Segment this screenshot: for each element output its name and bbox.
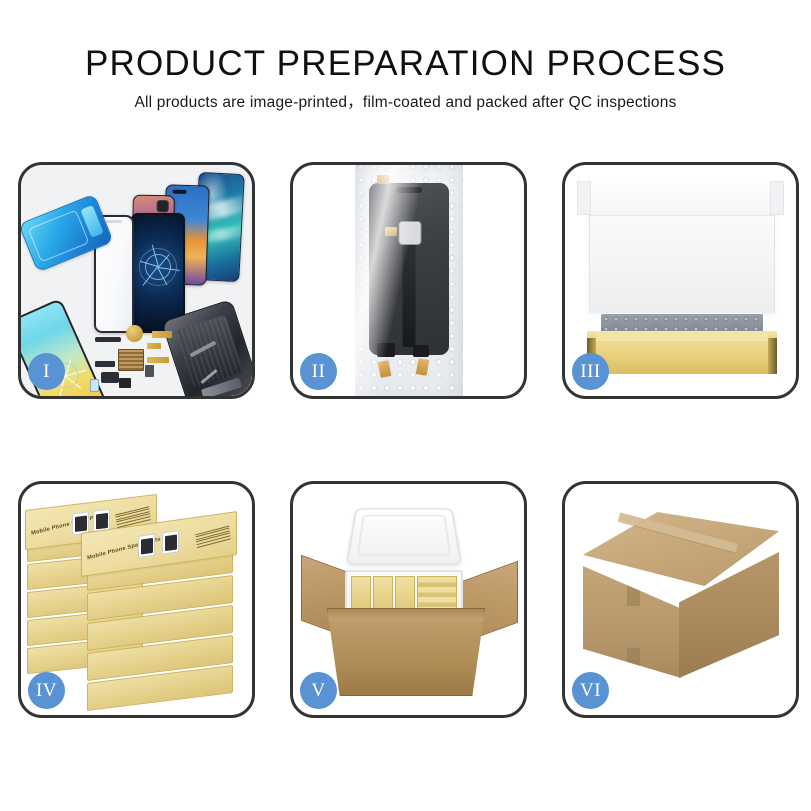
part-vibrator-motor [126, 325, 143, 342]
process-step-grid: I II [18, 162, 793, 718]
part-battery-connector [145, 365, 154, 377]
lid-flap-left [577, 181, 591, 215]
product-preparation-infographic: PRODUCT PREPARATION PROCESS All products… [0, 0, 811, 811]
process-step-5[interactable]: V [290, 481, 527, 718]
box-screen-image-c [138, 534, 155, 558]
part-camera-flex [95, 361, 115, 367]
driver-ic-right [413, 345, 429, 357]
carton-flap-mark-top [627, 584, 640, 606]
page-title: PRODUCT PREPARATION PROCESS [0, 44, 811, 84]
part-ic-chip [119, 378, 131, 388]
carton-left-face [583, 566, 681, 678]
part-flex-cable-c [147, 357, 169, 363]
phone-cracked-blue [131, 213, 185, 333]
gold-inner-box [587, 338, 777, 374]
process-step-2[interactable]: II [290, 162, 527, 399]
spare-parts-photo: I [21, 165, 252, 396]
stacked-boxes-photo: Mobile Phone Spare Parts Mobile Phone Sp… [21, 484, 252, 715]
tape-tab-lower-right [415, 358, 429, 376]
step-badge-5: V [300, 672, 337, 709]
process-step-1[interactable]: I [18, 162, 255, 399]
box-lid-white [589, 181, 775, 313]
process-step-4[interactable]: Mobile Phone Spare Parts Mobile Phone Sp… [18, 481, 255, 718]
box-screen-image-d [162, 530, 179, 554]
step-badge-3: III [572, 353, 609, 390]
sealed-carton-photo: VI [565, 484, 796, 715]
part-camera-module [101, 372, 119, 383]
foam-lid [346, 508, 463, 565]
step-badge-4: IV [28, 672, 65, 709]
part-lens [90, 379, 99, 392]
page-subtitle: All products are image-printed，film-coat… [0, 93, 811, 113]
box-spec-lines-front [195, 524, 231, 550]
box-inner-wall [596, 334, 768, 341]
carton-flap-mark-bottom [627, 648, 640, 670]
step-badge-2: II [300, 353, 337, 390]
bubble-wrap-photo: II [293, 165, 524, 396]
step-badge-6: VI [572, 672, 609, 709]
shipping-carton-open [327, 608, 485, 696]
lid-flap-right [770, 181, 784, 215]
part-speaker-mesh [95, 337, 121, 342]
header: PRODUCT PREPARATION PROCESS All products… [0, 0, 811, 113]
part-flex-cable-b [147, 343, 161, 349]
bubble-wrap-bag [355, 165, 463, 396]
process-step-6[interactable]: VI [562, 481, 799, 718]
process-step-3[interactable]: III [562, 162, 799, 399]
step-badge-1: I [28, 353, 65, 390]
carton-loading-photo: V [293, 484, 524, 715]
box-edge-right [768, 338, 777, 374]
inner-box-photo: III [565, 165, 796, 396]
part-connector-grid [118, 349, 144, 371]
part-flex-cable-a [152, 331, 172, 338]
